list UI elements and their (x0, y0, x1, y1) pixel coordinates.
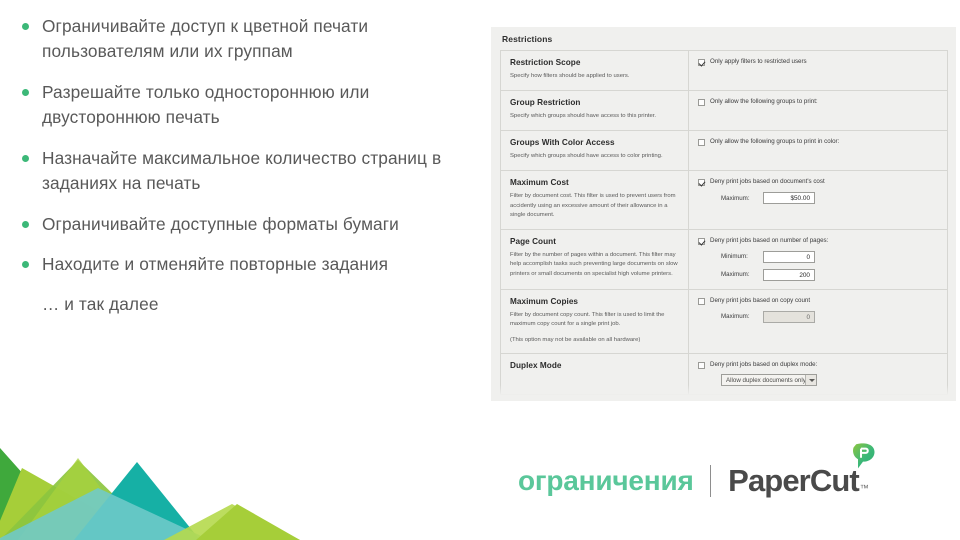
panel-title: Restrictions (491, 27, 956, 50)
setting-row-control-cell: Deny print jobs based on copy countMaxim… (689, 290, 947, 354)
checkbox-label: Only allow the following groups to print… (710, 139, 839, 146)
checkbox-label: Only apply filters to restricted users (710, 59, 807, 66)
setting-row-label-cell: Groups With Color AccessSpecify which gr… (501, 131, 689, 170)
setting-name: Maximum Copies (510, 297, 679, 306)
setting-checkbox-row[interactable]: Deny print jobs based on number of pages… (698, 238, 941, 245)
setting-description: Filter by the number of pages within a d… (510, 251, 679, 280)
setting-row-label-cell: Duplex Mode (501, 354, 689, 394)
setting-row-control-cell: Only apply filters to restricted users (689, 51, 947, 90)
bullet-item-text: Находите и отменяйте повторные задания (42, 252, 388, 277)
setting-row: Duplex ModeDeny print jobs based on dupl… (501, 354, 947, 395)
bullet-item: Находите и отменяйте повторные задания (22, 252, 492, 277)
brand-keyword: ограничения (518, 465, 694, 497)
setting-checkbox-row[interactable]: Deny print jobs based on document's cost (698, 179, 941, 186)
bullet-dot-icon (22, 261, 29, 268)
decorative-triangles (0, 420, 300, 540)
setting-description: Specify how filters should be applied to… (510, 72, 679, 82)
setting-description: Specify which groups should have access … (510, 112, 679, 122)
setting-row-control-cell: Only allow the following groups to print… (689, 131, 947, 170)
setting-row: Maximum CostFilter by document cost. Thi… (501, 171, 947, 230)
setting-name: Group Restriction (510, 98, 679, 107)
papercut-logo-text: PaperCut (728, 463, 859, 499)
setting-description: Filter by document cost. This filter is … (510, 192, 679, 221)
setting-row: Maximum CopiesFilter by document copy co… (501, 290, 947, 355)
field-input[interactable]: 0 (763, 251, 815, 263)
papercut-leaf-mark-icon (852, 443, 876, 469)
setting-row: Groups With Color AccessSpecify which gr… (501, 131, 947, 171)
bullet-item-text: Ограничивайте доступные форматы бумаги (42, 212, 399, 237)
checkbox-checked-icon[interactable] (698, 179, 705, 186)
bullet-item: … и так далее (22, 292, 492, 317)
checkbox-unchecked-icon[interactable] (698, 362, 705, 369)
setting-field-row: Minimum:0 (698, 251, 941, 263)
setting-select-row: Allow duplex documents only (698, 374, 941, 386)
setting-row: Page CountFilter by the number of pages … (501, 230, 947, 290)
bullet-item-text: Разрешайте только одностороннюю или двус… (42, 80, 492, 131)
setting-checkbox-row[interactable]: Deny print jobs based on duplex mode: (698, 362, 941, 369)
bullet-item: Ограничивайте доступные форматы бумаги (22, 212, 492, 237)
setting-row: Group RestrictionSpecify which groups sh… (501, 91, 947, 131)
bullet-item-text: Назначайте максимальное количество стран… (42, 146, 492, 197)
setting-field-row: Maximum:0 (698, 311, 941, 323)
setting-checkbox-row[interactable]: Only allow the following groups to print… (698, 139, 941, 146)
setting-row-label-cell: Group RestrictionSpecify which groups sh… (501, 91, 689, 130)
restrictions-screenshot-panel: Restrictions Restriction ScopeSpecify ho… (491, 27, 956, 401)
bullet-dot-icon (22, 301, 29, 308)
slide-canvas: Ограничивайте доступ к цветной печати по… (0, 0, 960, 540)
checkbox-label: Deny print jobs based on number of pages… (710, 238, 828, 245)
setting-description: Filter by document copy count. This filt… (510, 311, 679, 330)
checkbox-unchecked-icon[interactable] (698, 139, 705, 146)
bullet-item-text: Ограничивайте доступ к цветной печати по… (42, 14, 492, 65)
setting-row-control-cell: Only allow the following groups to print… (689, 91, 947, 130)
checkbox-label: Deny print jobs based on document's cost (710, 179, 825, 186)
bullet-item: Ограничивайте доступ к цветной печати по… (22, 14, 492, 65)
field-label: Maximum: (721, 271, 763, 278)
bullet-item: Назначайте максимальное количество стран… (22, 146, 492, 197)
setting-checkbox-row[interactable]: Only allow the following groups to print… (698, 99, 941, 106)
bullet-list: Ограничивайте доступ к цветной печати по… (22, 14, 492, 333)
checkbox-checked-icon[interactable] (698, 238, 705, 245)
checkbox-label: Only allow the following groups to print… (710, 99, 818, 106)
restrictions-table: Restriction ScopeSpecify how filters sho… (500, 50, 948, 395)
setting-name: Groups With Color Access (510, 138, 679, 147)
bullet-item-text: … и так далее (42, 292, 159, 317)
field-input[interactable]: $50.00 (763, 192, 815, 204)
duplex-mode-select-value: Allow duplex documents only (726, 377, 806, 384)
setting-description: Specify which groups should have access … (510, 152, 679, 162)
setting-name: Duplex Mode (510, 361, 679, 370)
brand-divider (710, 465, 712, 497)
checkbox-unchecked-icon[interactable] (698, 298, 705, 305)
checkbox-label: Deny print jobs based on duplex mode: (710, 362, 817, 369)
field-label: Maximum: (721, 195, 763, 202)
setting-row-label-cell: Page CountFilter by the number of pages … (501, 230, 689, 289)
setting-checkbox-row[interactable]: Only apply filters to restricted users (698, 59, 941, 66)
footer-branding: ограничения PaperCut ™ (518, 459, 869, 503)
bullet-item: Разрешайте только одностороннюю или двус… (22, 80, 492, 131)
setting-row-label-cell: Restriction ScopeSpecify how filters sho… (501, 51, 689, 90)
setting-row-label-cell: Maximum CostFilter by document cost. Thi… (501, 171, 689, 229)
setting-field-row: Maximum:200 (698, 269, 941, 281)
setting-row: Restriction ScopeSpecify how filters sho… (501, 51, 947, 91)
setting-name: Page Count (510, 237, 679, 246)
setting-row-control-cell: Deny print jobs based on document's cost… (689, 171, 947, 229)
bullet-dot-icon (22, 221, 29, 228)
setting-name: Restriction Scope (510, 58, 679, 67)
checkbox-label: Deny print jobs based on copy count (710, 298, 810, 305)
papercut-logo: PaperCut ™ (728, 463, 869, 499)
setting-row-control-cell: Deny print jobs based on number of pages… (689, 230, 947, 289)
field-input[interactable]: 200 (763, 269, 815, 281)
checkbox-unchecked-icon[interactable] (698, 99, 705, 106)
setting-row-control-cell: Deny print jobs based on duplex mode:All… (689, 354, 947, 394)
setting-description: (This option may not be available on all… (510, 336, 679, 346)
chevron-down-icon[interactable] (805, 375, 816, 385)
bullet-dot-icon (22, 89, 29, 96)
setting-name: Maximum Cost (510, 178, 679, 187)
trademark-symbol: ™ (860, 483, 869, 493)
field-label: Maximum: (721, 313, 763, 320)
bullet-dot-icon (22, 23, 29, 30)
field-label: Minimum: (721, 253, 763, 260)
setting-field-row: Maximum:$50.00 (698, 192, 941, 204)
field-input: 0 (763, 311, 815, 323)
bullet-dot-icon (22, 155, 29, 162)
duplex-mode-select[interactable]: Allow duplex documents only (721, 374, 817, 386)
setting-row-label-cell: Maximum CopiesFilter by document copy co… (501, 290, 689, 354)
checkbox-checked-icon[interactable] (698, 59, 705, 66)
setting-checkbox-row[interactable]: Deny print jobs based on copy count (698, 298, 941, 305)
